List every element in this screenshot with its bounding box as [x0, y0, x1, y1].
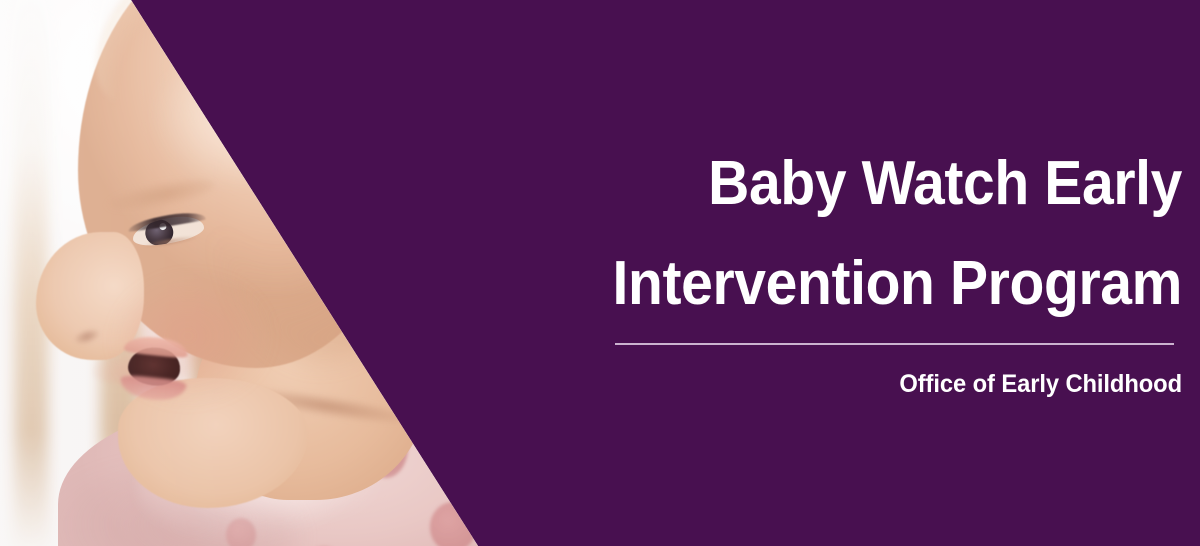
banner-title: Baby Watch Early Intervention Program [372, 134, 1182, 334]
baby-mouth [117, 330, 202, 408]
mouth-lower-lip [119, 374, 187, 403]
banner-subtitle: Office of Early Childhood [346, 368, 1182, 400]
page-banner: Baby Watch Early Intervention Program Of… [0, 0, 1200, 546]
title-divider-rule [615, 343, 1174, 345]
banner-text-block: Baby Watch Early Intervention Program Of… [302, 0, 1182, 546]
clothing-dot [226, 518, 256, 546]
